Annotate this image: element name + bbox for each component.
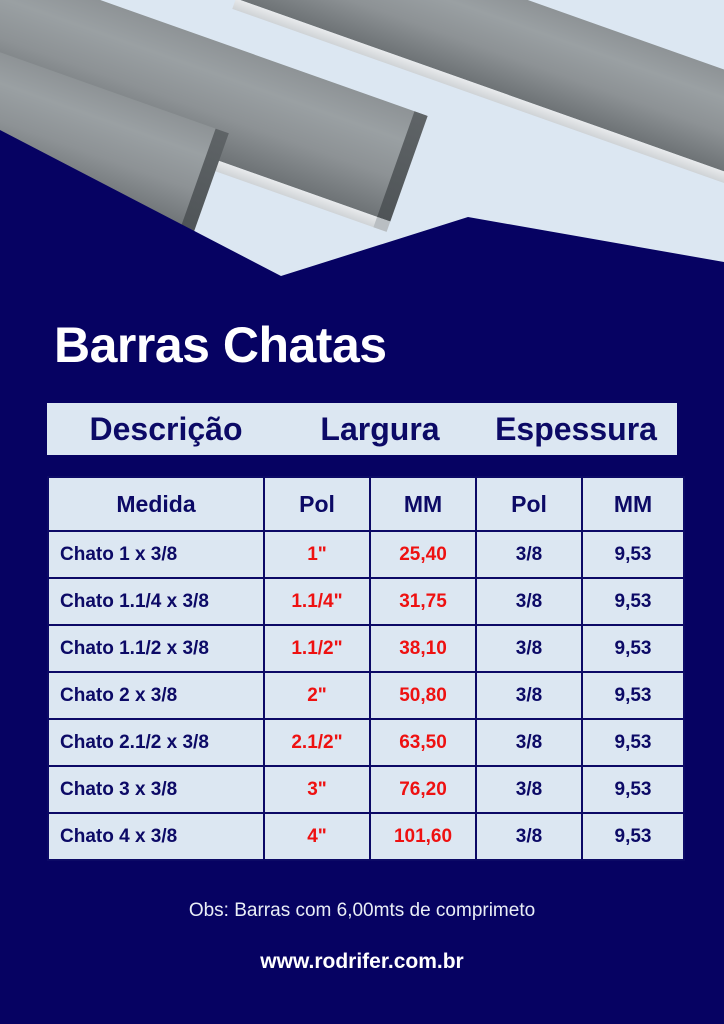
- cell-largura-pol: 1.1/4": [265, 579, 369, 624]
- cell-largura-pol: 1": [265, 532, 369, 577]
- cell-espessura-pol: 3/8: [477, 579, 581, 624]
- table-row: Chato 4 x 3/8 4" 101,60 3/8 9,53: [49, 814, 683, 859]
- cell-medida: Chato 1 x 3/8: [49, 532, 263, 577]
- cell-espessura-pol: 3/8: [477, 720, 581, 765]
- observation-note: Obs: Barras com 6,00mts de comprimeto: [0, 900, 724, 922]
- cell-espessura-mm: 9,53: [583, 720, 683, 765]
- table-row: Chato 2.1/2 x 3/8 2.1/2" 63,50 3/8 9,53: [49, 720, 683, 765]
- table-row: Chato 1.1/4 x 3/8 1.1/4" 31,75 3/8 9,53: [49, 579, 683, 624]
- subheader-medida: Medida: [49, 478, 263, 530]
- flyer-content: Barras Chatas Descrição Largura Espessur…: [0, 0, 724, 1024]
- cell-largura-mm: 38,10: [371, 626, 475, 671]
- website-link[interactable]: www.rodrifer.com.br: [0, 950, 724, 974]
- cell-espessura-mm: 9,53: [583, 579, 683, 624]
- flyer-page: RodriFER Barras Chatas Descrição Largura…: [0, 0, 724, 1024]
- group-header-largura: Largura: [285, 411, 475, 448]
- cell-largura-mm: 101,60: [371, 814, 475, 859]
- subheader-largura-pol: Pol: [265, 478, 369, 530]
- cell-medida: Chato 4 x 3/8: [49, 814, 263, 859]
- cell-espessura-pol: 3/8: [477, 767, 581, 812]
- cell-medida: Chato 2.1/2 x 3/8: [49, 720, 263, 765]
- cell-largura-mm: 25,40: [371, 532, 475, 577]
- cell-largura-mm: 31,75: [371, 579, 475, 624]
- group-header-descricao: Descrição: [47, 411, 285, 448]
- cell-medida: Chato 3 x 3/8: [49, 767, 263, 812]
- subheader-espessura-pol: Pol: [477, 478, 581, 530]
- cell-espessura-pol: 3/8: [477, 626, 581, 671]
- cell-espessura-mm: 9,53: [583, 767, 683, 812]
- cell-medida: Chato 2 x 3/8: [49, 673, 263, 718]
- cell-largura-pol: 2.1/2": [265, 720, 369, 765]
- table-group-header: Descrição Largura Espessura: [47, 403, 677, 455]
- table-row: Chato 1 x 3/8 1" 25,40 3/8 9,53: [49, 532, 683, 577]
- cell-medida: Chato 1.1/2 x 3/8: [49, 626, 263, 671]
- cell-largura-pol: 3": [265, 767, 369, 812]
- cell-espessura-mm: 9,53: [583, 673, 683, 718]
- table-row: Chato 3 x 3/8 3" 76,20 3/8 9,53: [49, 767, 683, 812]
- cell-largura-pol: 1.1/2": [265, 626, 369, 671]
- subheader-largura-mm: MM: [371, 478, 475, 530]
- page-title: Barras Chatas: [54, 316, 387, 374]
- cell-espessura-pol: 3/8: [477, 814, 581, 859]
- cell-espessura-mm: 9,53: [583, 532, 683, 577]
- specs-table: Medida Pol MM Pol MM Chato 1 x 3/8 1" 25…: [47, 476, 685, 861]
- cell-espessura-mm: 9,53: [583, 626, 683, 671]
- group-header-espessura: Espessura: [475, 411, 677, 448]
- cell-espessura-mm: 9,53: [583, 814, 683, 859]
- subheader-espessura-mm: MM: [583, 478, 683, 530]
- table-row: Chato 2 x 3/8 2" 50,80 3/8 9,53: [49, 673, 683, 718]
- cell-largura-mm: 76,20: [371, 767, 475, 812]
- cell-largura-mm: 63,50: [371, 720, 475, 765]
- cell-largura-mm: 50,80: [371, 673, 475, 718]
- table-row: Chato 1.1/2 x 3/8 1.1/2" 38,10 3/8 9,53: [49, 626, 683, 671]
- cell-largura-pol: 4": [265, 814, 369, 859]
- table-subheader-row: Medida Pol MM Pol MM: [49, 478, 683, 530]
- cell-espessura-pol: 3/8: [477, 673, 581, 718]
- cell-largura-pol: 2": [265, 673, 369, 718]
- cell-espessura-pol: 3/8: [477, 532, 581, 577]
- cell-medida: Chato 1.1/4 x 3/8: [49, 579, 263, 624]
